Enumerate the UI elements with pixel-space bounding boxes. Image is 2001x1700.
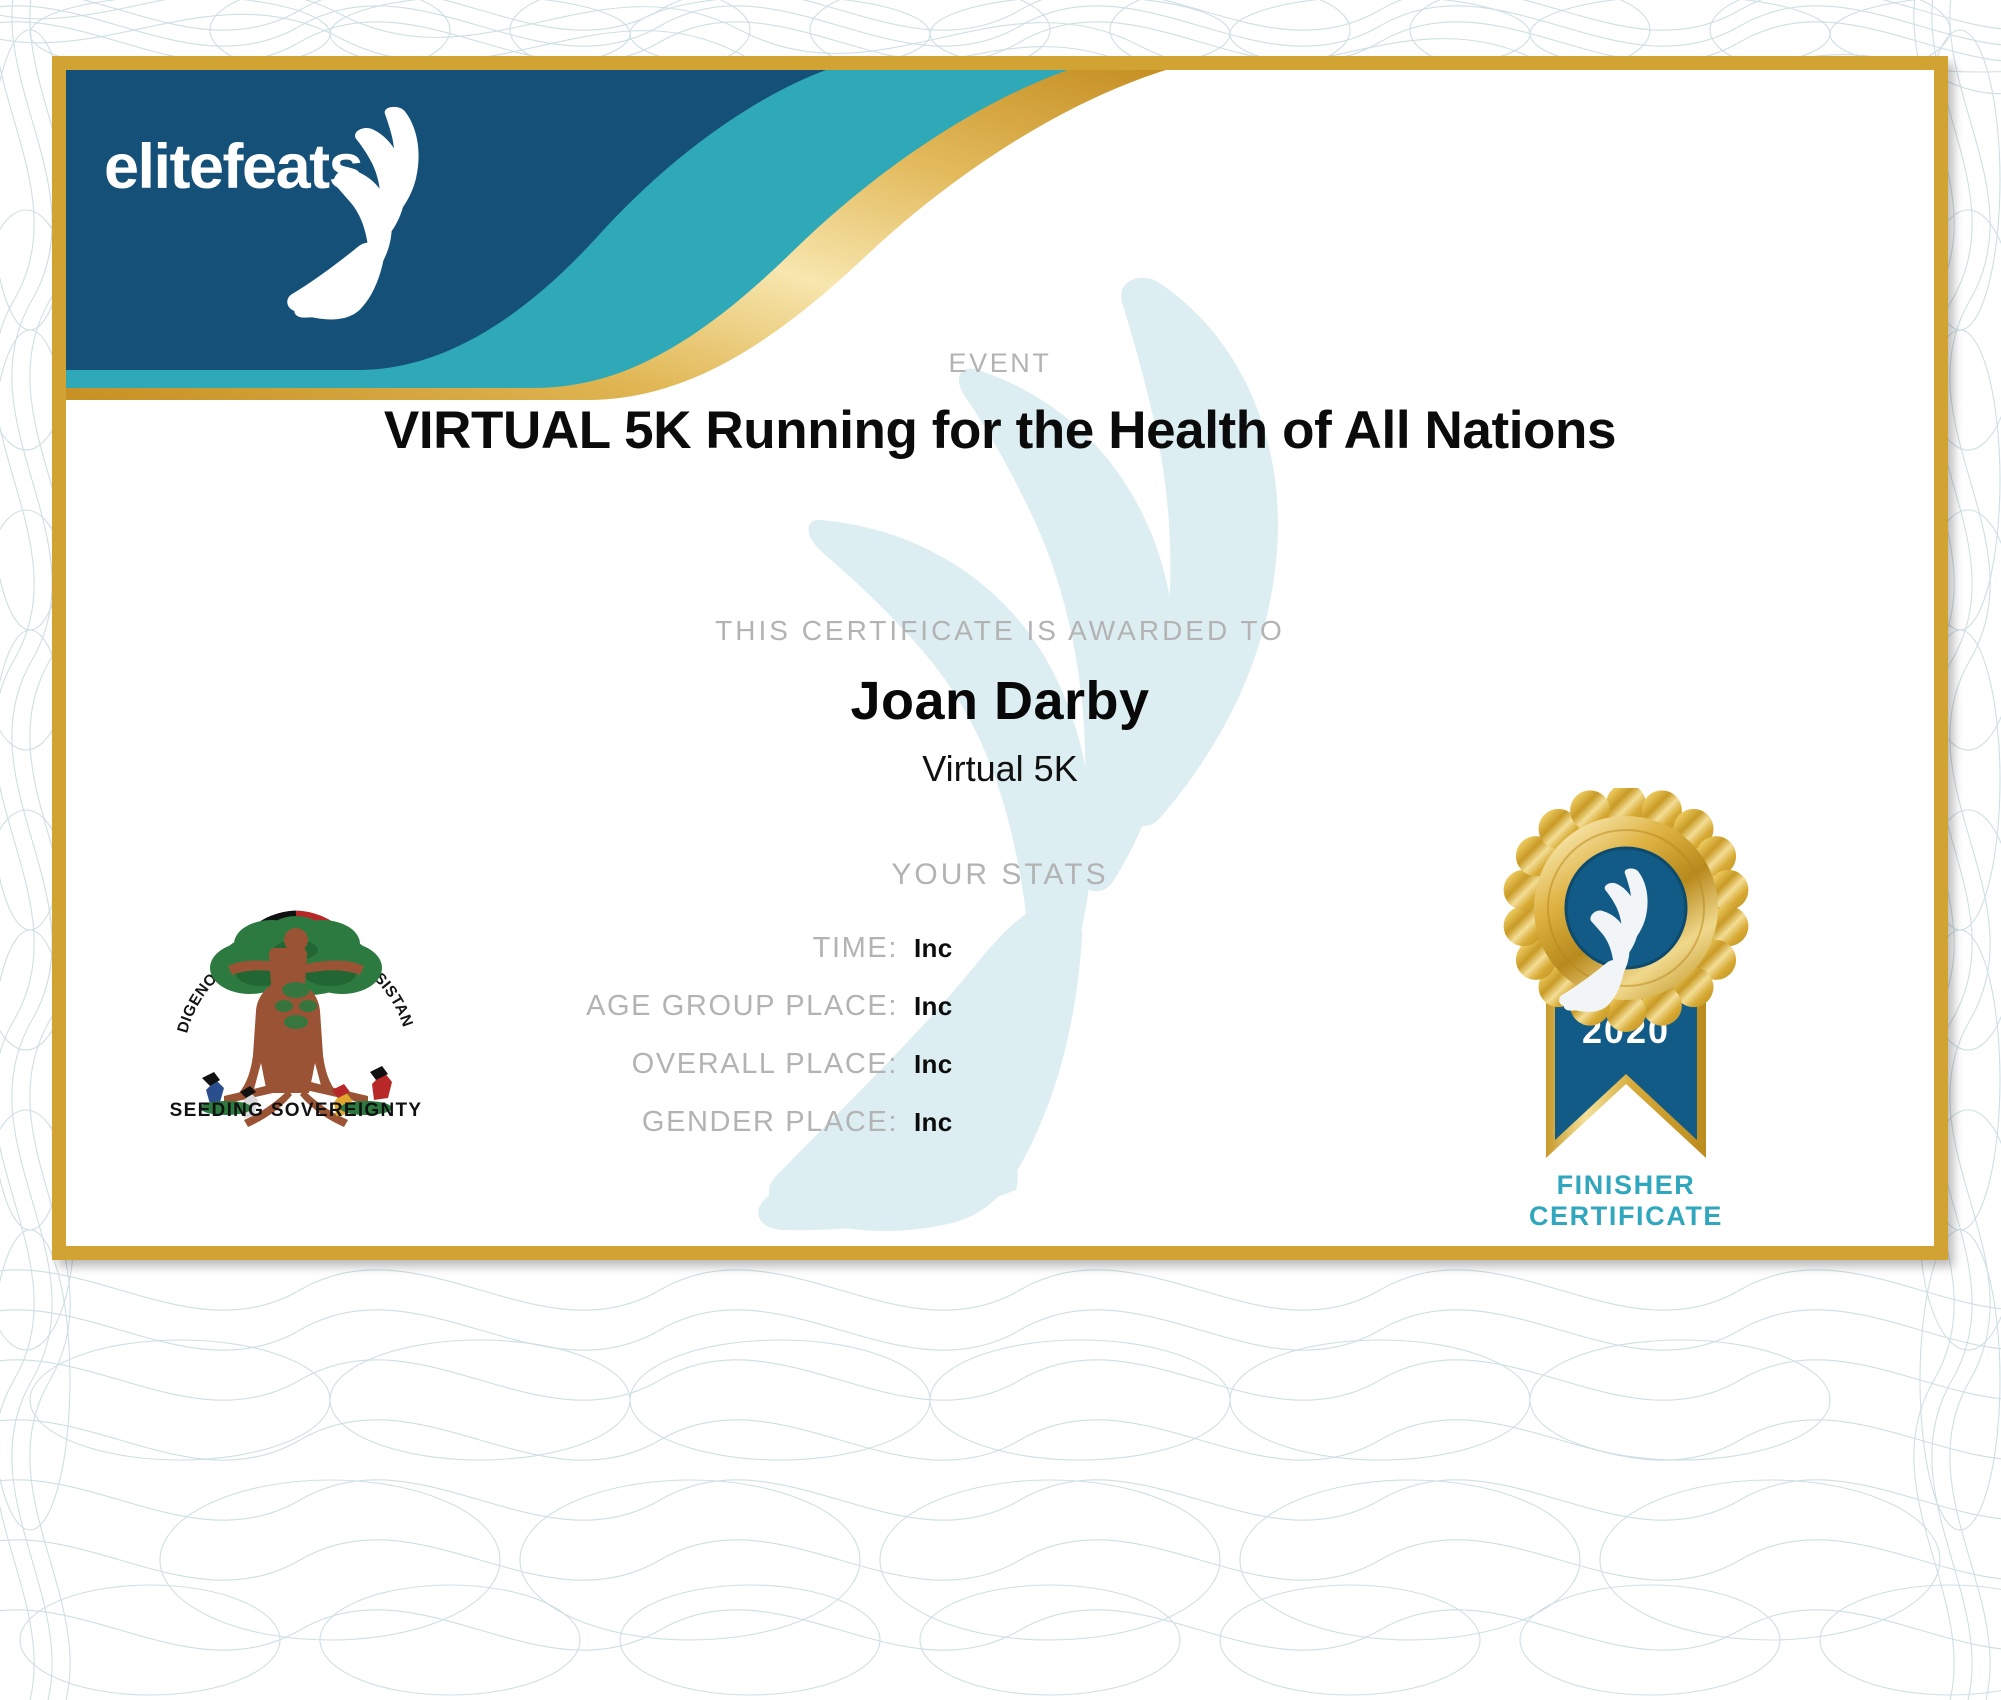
event-title: VIRTUAL 5K Running for the Health of All…: [66, 400, 1934, 461]
recipient-name: Joan Darby: [66, 670, 1934, 732]
stat-value: Inc: [914, 1049, 952, 1080]
org-logo-name: SEEDING SOVEREIGNTY: [146, 1100, 446, 1122]
stat-value: Inc: [914, 991, 952, 1022]
badge-caption-line1: FINISHER: [1446, 1170, 1806, 1201]
certificate-body: elitefeats EVENT VIRTUAL 5K Running for …: [66, 70, 1934, 1246]
certificate-gold-frame: elitefeats EVENT VIRTUAL 5K Running for …: [52, 56, 1948, 1260]
stat-value: Inc: [914, 933, 952, 964]
badge-caption-line2: CERTIFICATE: [1446, 1201, 1806, 1232]
certificate-page: elitefeats EVENT VIRTUAL 5K Running for …: [0, 0, 2001, 1700]
stat-value: Inc: [914, 1107, 952, 1138]
finisher-badge: 2020: [1476, 788, 1776, 1208]
badge-medal: [1504, 788, 1749, 1032]
event-label: EVENT: [66, 348, 1934, 379]
badge-caption: FINISHER CERTIFICATE: [1446, 1170, 1806, 1233]
awarded-to-label: THIS CERTIFICATE IS AWARDED TO: [66, 615, 1934, 647]
recipient-subtitle: Virtual 5K: [66, 748, 1934, 790]
seeding-sovereignty-logo: INDIGENOUS & WOMXN-LED RESISTANCE: [166, 840, 426, 1140]
